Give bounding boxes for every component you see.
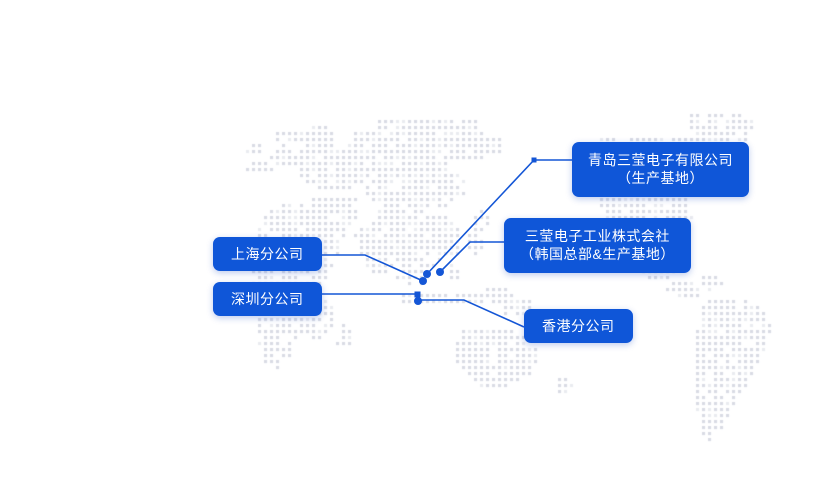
marker-hongkong (414, 297, 422, 305)
label-korea-line2: （韩国总部&生产基地） (520, 245, 675, 263)
label-qingdao-line1: 青岛三莹电子有限公司 (588, 151, 733, 169)
connector-lines (0, 0, 824, 480)
bend-node-shenzhen (415, 292, 421, 298)
connector-korea (440, 242, 504, 272)
label-hongkong[interactable]: 香港分公司 (524, 309, 633, 343)
label-qingdao-line2: （生产基地） (588, 169, 733, 187)
connector-shanghai (313, 255, 423, 281)
bend-node-qingdao (532, 158, 537, 163)
label-shanghai-text: 上海分公司 (231, 245, 304, 263)
connector-hongkong (418, 300, 524, 327)
world-map-infographic: 青岛三莹电子有限公司 （生产基地） 三莹电子工业株式会社 （韩国总部&生产基地）… (0, 0, 824, 480)
label-korea-line1: 三莹电子工业株式会社 (520, 227, 675, 245)
label-qingdao[interactable]: 青岛三莹电子有限公司 （生产基地） (572, 142, 749, 197)
label-korea-hq[interactable]: 三莹电子工业株式会社 （韩国总部&生产基地） (504, 218, 691, 273)
label-shanghai[interactable]: 上海分公司 (213, 237, 322, 271)
label-shenzhen[interactable]: 深圳分公司 (213, 282, 322, 316)
marker-shanghai (419, 277, 427, 285)
marker-qingdao (423, 270, 431, 278)
label-shenzhen-text: 深圳分公司 (231, 290, 304, 308)
label-hongkong-text: 香港分公司 (542, 317, 615, 335)
marker-korea (436, 268, 444, 276)
